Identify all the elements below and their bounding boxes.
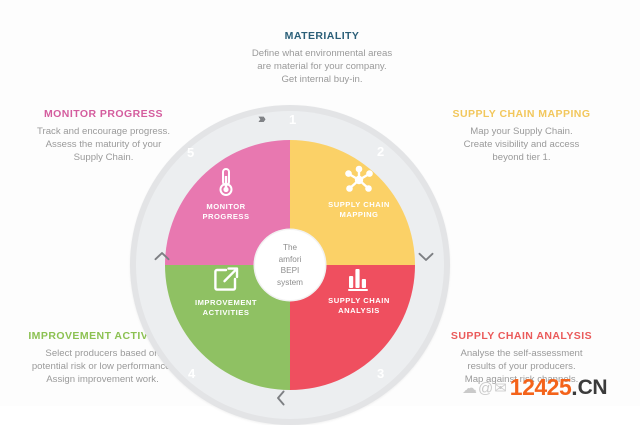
quadrant-label-line: PROGRESS <box>172 212 280 222</box>
quadrant-content-monitor-progress: MONITOR PROGRESS <box>172 167 280 221</box>
double-chevron-right-icon: ››› <box>258 111 263 125</box>
callout-materiality-title: MATERIALITY <box>222 30 422 43</box>
chevron-up-icon <box>154 249 170 264</box>
callout-line: Analyse the self-assessment <box>424 347 619 360</box>
thermometer-icon <box>213 167 239 197</box>
cycle-wheel-diagram: MONITOR PROGRESS SUPPLY CHAIN <box>130 105 450 425</box>
quadrant-label: SUPPLY CHAIN ANALYSIS <box>305 296 413 315</box>
quadrant-label: IMPROVEMENT ACTIVITIES <box>172 298 280 317</box>
callout-line: results of your producers. <box>424 360 619 373</box>
center-hub-label: The amfori BEPI system <box>277 242 303 288</box>
quadrant-label-line: SUPPLY CHAIN <box>305 200 413 210</box>
hub-line: The <box>277 242 303 254</box>
callout-line: Get internal buy-in. <box>222 73 422 86</box>
callout-line: Create visibility and access <box>424 138 619 151</box>
step-number-3: 3 <box>377 366 384 381</box>
quadrant-label-line: ACTIVITIES <box>172 308 280 318</box>
callout-line: are material for your company. <box>222 60 422 73</box>
network-nodes-icon <box>344 165 374 195</box>
step-number-1: 1 <box>289 112 296 127</box>
callout-line: Map your Supply Chain. <box>424 125 619 138</box>
quadrant-label-line: ANALYSIS <box>305 306 413 316</box>
chevron-down-icon <box>418 250 434 265</box>
watermark-number: 12425 <box>510 374 571 401</box>
quadrant-label-line: MAPPING <box>305 210 413 220</box>
watermark-social-icons: ☁@✉ <box>462 379 508 397</box>
quadrant-label-line: SUPPLY CHAIN <box>305 296 413 306</box>
center-hub: The amfori BEPI system <box>255 230 325 300</box>
quadrant-label-line: MONITOR <box>172 202 280 212</box>
callout-supply-chain-analysis-title: SUPPLY CHAIN ANALYSIS <box>424 330 619 343</box>
callout-line: beyond tier 1. <box>424 151 619 164</box>
watermark: ☁@✉ 12425 . CN <box>462 374 607 401</box>
quadrant-label-line: IMPROVEMENT <box>172 298 280 308</box>
callout-materiality: MATERIALITY Define what environmental ar… <box>222 30 422 87</box>
callout-supply-chain-mapping-body: Map your Supply Chain. Create visibility… <box>424 125 619 165</box>
step-number-2: 2 <box>377 144 384 159</box>
callout-line: Define what environmental areas <box>222 47 422 60</box>
watermark-tld: CN <box>578 376 607 400</box>
hub-line: amfori <box>277 254 303 266</box>
quadrant-label: SUPPLY CHAIN MAPPING <box>305 200 413 219</box>
chevron-left-icon <box>276 390 286 409</box>
hub-line: system <box>277 277 303 289</box>
quadrant-label: MONITOR PROGRESS <box>172 202 280 221</box>
arrow-out-of-box-icon <box>212 265 240 293</box>
step-number-5: 5 <box>187 145 194 160</box>
quadrant-content-supply-chain-mapping: SUPPLY CHAIN MAPPING <box>305 165 413 219</box>
step-number-4: 4 <box>188 366 195 381</box>
callout-materiality-body: Define what environmental areas are mate… <box>222 47 422 87</box>
bar-chart-icon <box>345 265 373 291</box>
hub-line: BEPI <box>277 265 303 277</box>
callout-supply-chain-mapping-title: SUPPLY CHAIN MAPPING <box>424 108 619 121</box>
callout-supply-chain-mapping: SUPPLY CHAIN MAPPING Map your Supply Cha… <box>424 108 619 165</box>
